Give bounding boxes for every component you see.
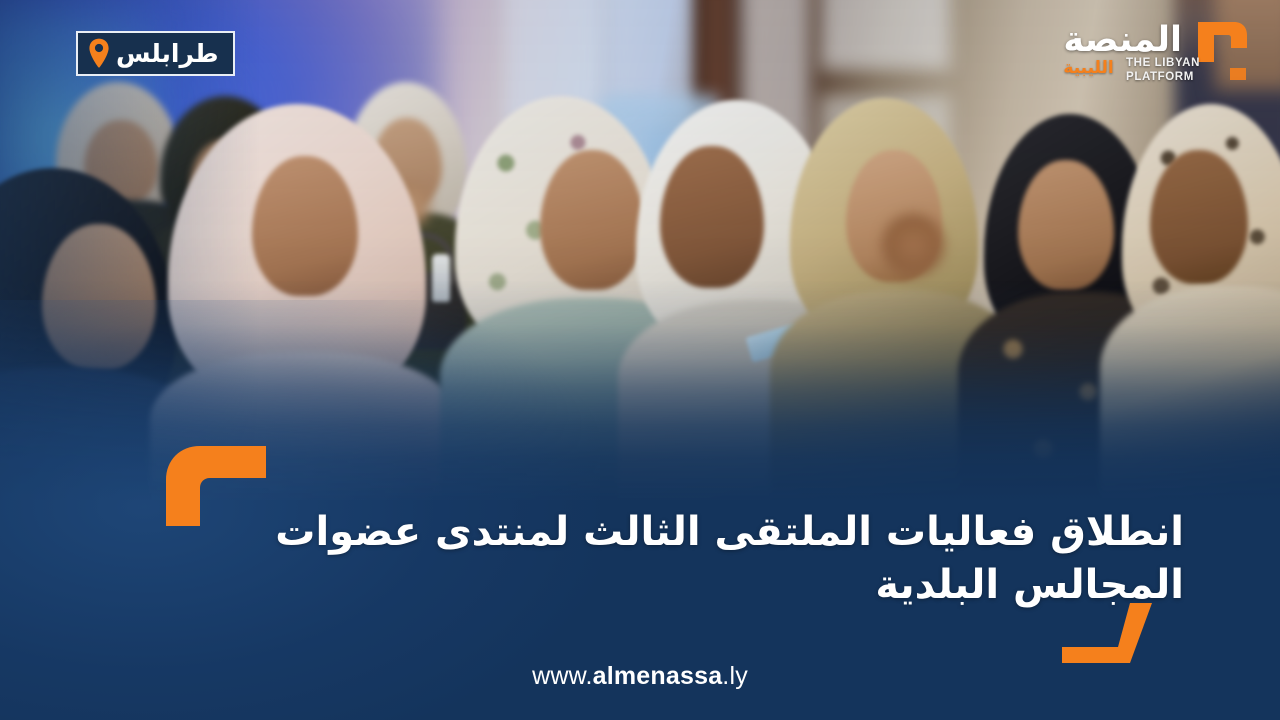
url-prefix: www. — [532, 662, 593, 690]
brand-logo[interactable]: المنصة الليبية THE LIBYAN PLATFORM — [1063, 18, 1252, 84]
url-suffix: .ly — [722, 662, 748, 690]
brand-arabic-name: المنصة — [1063, 24, 1182, 58]
brand-english-line-2: PLATFORM — [1126, 71, 1194, 83]
brand-english-line-1: THE LIBYAN — [1126, 57, 1200, 69]
news-card: طرابلس المنصة الليبية THE LIBYAN PLATFOR… — [0, 0, 1280, 720]
location-badge-label: طرابلس — [116, 41, 219, 66]
map-pin-icon — [88, 38, 110, 68]
website-url[interactable]: www.almenassa.ly — [0, 662, 1280, 691]
url-name: almenassa — [593, 662, 723, 690]
brand-arabic-subtitle: الليبية — [1063, 59, 1113, 78]
quote-close-bracket-icon — [1062, 603, 1172, 663]
location-badge[interactable]: طرابلس — [76, 31, 235, 76]
brand-english-tagline: THE LIBYAN PLATFORM — [1126, 56, 1200, 85]
headline-text: انطلاق فعاليات الملتقى الثالث لمنتدى عضو… — [184, 506, 1184, 612]
